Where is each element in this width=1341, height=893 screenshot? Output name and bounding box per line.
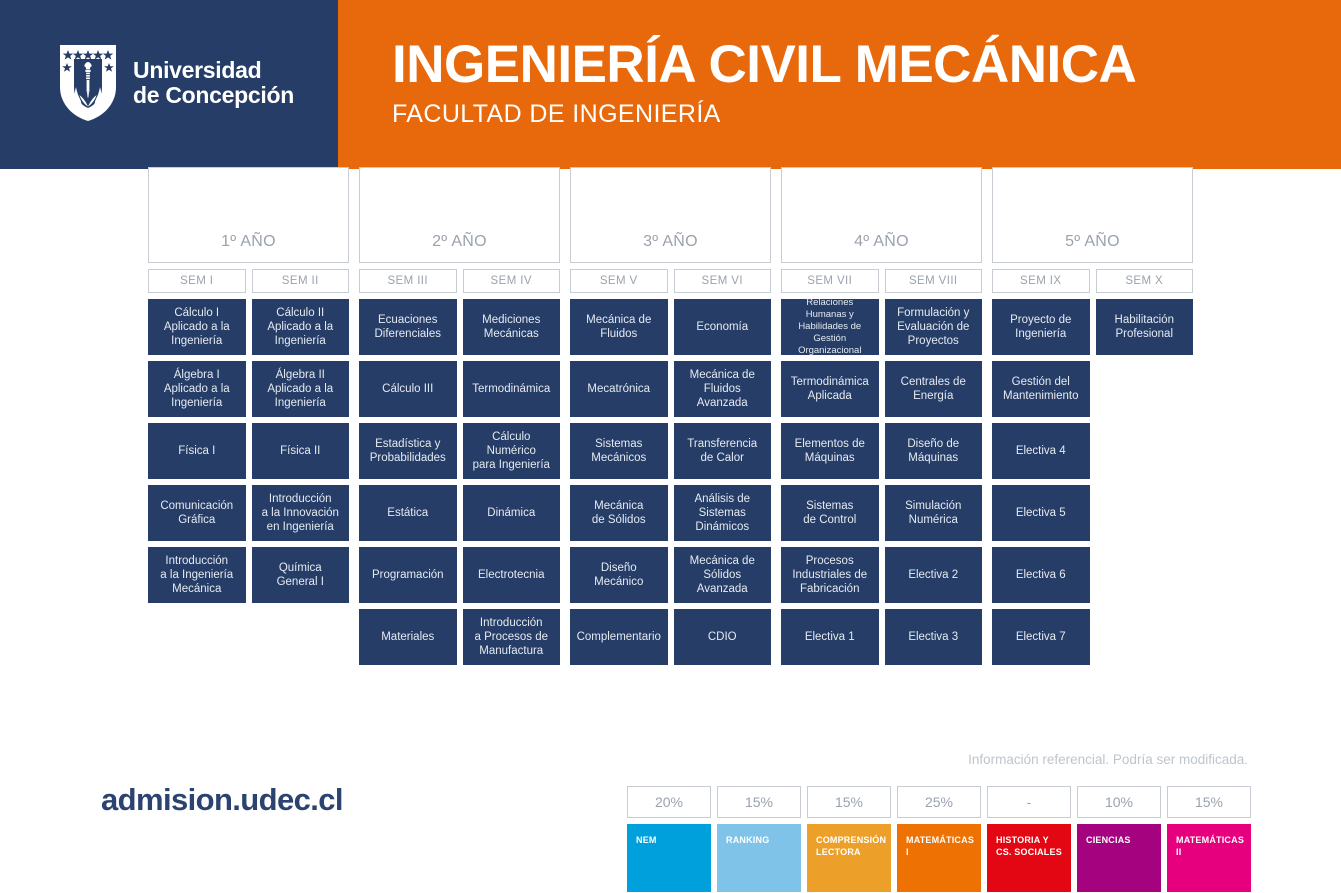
faculty-subtitle: FACULTAD DE INGENIERÍA <box>392 100 1341 129</box>
semester-label: SEM X <box>1125 275 1163 287</box>
course-column-5: Mecánica deFluidosMecatrónicaSistemasMec… <box>570 299 668 671</box>
course-cell[interactable]: Transferenciade Calor <box>674 423 772 479</box>
year-gap <box>560 167 570 263</box>
course-cell-empty <box>1096 547 1194 603</box>
course-cell[interactable]: Introduccióna la IngenieríaMecánica <box>148 547 246 603</box>
course-cell[interactable]: ProcesosIndustriales deFabricación <box>781 547 879 603</box>
course-name: Estadística yProbabilidades <box>370 437 446 466</box>
weight-factor-label: CIENCIAS <box>1077 824 1161 892</box>
weight-column-2: 15%RANKING <box>717 786 801 892</box>
course-cell[interactable]: Gestión delMantenimiento <box>992 361 1090 417</box>
course-column-3: EcuacionesDiferencialesCálculo IIIEstadí… <box>359 299 457 671</box>
year-header-3: 3º AÑO <box>570 167 771 263</box>
year-label: 4º AÑO <box>854 233 909 251</box>
semester-header-9[interactable]: SEM IX <box>992 269 1090 293</box>
semester-label: SEM III <box>387 275 428 287</box>
university-name-line2: de Concepción <box>133 83 294 108</box>
course-name: Álgebra IIAplicado a laIngeniería <box>267 368 333 411</box>
course-cell-empty <box>1096 609 1194 665</box>
disclaimer-text: Información referencial. Podría ser modi… <box>968 752 1248 767</box>
course-cell[interactable]: Análisis deSistemasDinámicos <box>674 485 772 541</box>
university-name-line1: Universidad <box>133 58 294 83</box>
course-cell[interactable]: Introduccióna la Innovaciónen Ingeniería <box>252 485 350 541</box>
semester-header-4[interactable]: SEM IV <box>463 269 561 293</box>
course-name: Electiva 7 <box>1016 630 1066 644</box>
course-cell[interactable]: Cálculo IAplicado a laIngeniería <box>148 299 246 355</box>
course-name: Física II <box>280 444 320 458</box>
course-name: Mecánica deFluidos Avanzada <box>678 368 768 411</box>
course-name: Programación <box>372 568 444 582</box>
course-name: Electiva 3 <box>908 630 958 644</box>
course-column-2: Cálculo IIAplicado a laIngenieríaÁlgebra… <box>252 299 350 671</box>
course-name: Dinámica <box>487 506 535 520</box>
semester-gap <box>771 269 781 293</box>
semester-gap <box>560 269 570 293</box>
course-cell[interactable]: Álgebra IAplicado a laIngeniería <box>148 361 246 417</box>
course-cell[interactable]: Centrales deEnergía <box>885 361 983 417</box>
course-cell[interactable]: Mecánica deFluidos <box>570 299 668 355</box>
weight-percent: 25% <box>897 786 981 818</box>
semester-header-3[interactable]: SEM III <box>359 269 457 293</box>
course-name: Economía <box>696 320 748 334</box>
course-column-8: Formulación yEvaluación deProyectosCentr… <box>885 299 983 671</box>
semester-header-7[interactable]: SEM VII <box>781 269 879 293</box>
course-name: Mecatrónica <box>587 382 650 396</box>
course-name: Introduccióna Procesos deManufactura <box>474 616 548 659</box>
course-name: Introduccióna la Innovaciónen Ingeniería <box>262 492 339 535</box>
semester-gap <box>349 269 359 293</box>
course-cell[interactable]: TermodinámicaAplicada <box>781 361 879 417</box>
course-cell[interactable]: Mecánicade Sólidos <box>570 485 668 541</box>
course-name: QuímicaGeneral I <box>277 561 324 590</box>
course-name: Mecánica deSólidos Avanzada <box>678 554 768 597</box>
course-name: Cálculo Numéricopara Ingeniería <box>467 430 557 473</box>
course-column-gap <box>349 299 359 671</box>
course-cell[interactable]: Dinámica <box>463 485 561 541</box>
course-cell[interactable]: Electrotecnia <box>463 547 561 603</box>
course-name: Complementario <box>577 630 661 644</box>
weight-column-3: 15%COMPRENSIÓNLECTORA <box>807 786 891 892</box>
course-cell[interactable]: Cálculo IIAplicado a laIngeniería <box>252 299 350 355</box>
course-cell[interactable]: Sistemasde Control <box>781 485 879 541</box>
semester-gap <box>982 269 992 293</box>
year-gap <box>982 167 992 263</box>
weight-column-1: 20%NEM <box>627 786 711 892</box>
course-name: Física I <box>178 444 215 458</box>
course-column-9: Proyecto deIngenieríaGestión delMantenim… <box>992 299 1090 671</box>
course-column-4: MedicionesMecánicasTermodinámicaCálculo … <box>463 299 561 671</box>
course-cell[interactable]: ComunicaciónGráfica <box>148 485 246 541</box>
semester-label: SEM I <box>180 275 213 287</box>
header-brand-panel: Universidad de Concepción <box>0 0 338 166</box>
course-cell[interactable]: Materiales <box>359 609 457 665</box>
weight-factor-label: MATEMÁTICAS I <box>897 824 981 892</box>
semester-label: SEM VII <box>807 275 852 287</box>
course-name: SistemasMecánicos <box>591 437 646 466</box>
course-cell-empty <box>1096 361 1194 417</box>
curriculum-grid: 1º AÑO2º AÑO3º AÑO4º AÑO5º AÑO SEM ISEM … <box>148 167 1193 671</box>
year-label: 1º AÑO <box>221 233 276 251</box>
course-name: Elementos deMáquinas <box>795 437 865 466</box>
admission-site-url[interactable]: admision.udec.cl <box>101 782 343 818</box>
course-name: Electiva 2 <box>908 568 958 582</box>
year-label: 5º AÑO <box>1065 233 1120 251</box>
weight-percent: 15% <box>717 786 801 818</box>
course-column-7: Relaciones Humanas yHabilidades de Gesti… <box>781 299 879 671</box>
course-name: Termodinámica <box>472 382 550 396</box>
course-name: Estática <box>387 506 428 520</box>
course-name: ProcesosIndustriales deFabricación <box>792 554 867 597</box>
page-header: Universidad de Concepción INGENIERÍA CIV… <box>0 0 1341 166</box>
course-cell[interactable]: Introduccióna Procesos deManufactura <box>463 609 561 665</box>
course-cell[interactable]: Mecatrónica <box>570 361 668 417</box>
year-gap <box>771 167 781 263</box>
course-column-6: EconomíaMecánica deFluidos AvanzadaTrans… <box>674 299 772 671</box>
course-cell[interactable]: HabilitaciónProfesional <box>1096 299 1194 355</box>
course-name: Introduccióna la IngenieríaMecánica <box>160 554 233 597</box>
admission-weights-table: 20%NEM15%RANKING15%COMPRENSIÓNLECTORA25%… <box>627 786 1251 892</box>
course-name: Cálculo III <box>382 382 433 396</box>
course-name: Electiva 5 <box>1016 506 1066 520</box>
year-header-row: 1º AÑO2º AÑO3º AÑO4º AÑO5º AÑO <box>148 167 1193 263</box>
course-cell[interactable]: Formulación yEvaluación deProyectos <box>885 299 983 355</box>
course-cell[interactable]: Electiva 5 <box>992 485 1090 541</box>
semester-label: SEM VIII <box>909 275 958 287</box>
course-name: ComunicaciónGráfica <box>160 499 233 528</box>
course-cell[interactable]: Física II <box>252 423 350 479</box>
semester-label: SEM V <box>600 275 638 287</box>
weight-factor-label: RANKING <box>717 824 801 892</box>
semester-label: SEM IV <box>491 275 532 287</box>
course-cell[interactable]: Complementario <box>570 609 668 665</box>
course-cell[interactable]: SimulaciónNumérica <box>885 485 983 541</box>
course-name: Materiales <box>381 630 434 644</box>
course-name: Relaciones Humanas yHabilidades de Gesti… <box>785 297 875 356</box>
header-title-panel: INGENIERÍA CIVIL MECÁNICA FACULTAD DE IN… <box>338 0 1341 166</box>
course-cell[interactable]: EcuacionesDiferenciales <box>359 299 457 355</box>
course-cell[interactable]: Diseño deMáquinas <box>885 423 983 479</box>
semester-header-row: SEM ISEM IISEM IIISEM IVSEM VSEM VISEM V… <box>148 269 1193 293</box>
course-name: Electiva 6 <box>1016 568 1066 582</box>
course-cell[interactable]: Relaciones Humanas yHabilidades de Gesti… <box>781 299 879 355</box>
course-name: Cálculo IIAplicado a laIngeniería <box>267 306 333 349</box>
course-cell[interactable]: SistemasMecánicos <box>570 423 668 479</box>
course-name: EcuacionesDiferenciales <box>375 313 441 342</box>
weight-factor-label: MATEMÁTICAS II <box>1167 824 1251 892</box>
course-cell[interactable]: Cálculo III <box>359 361 457 417</box>
semester-label: SEM VI <box>702 275 743 287</box>
course-column-1: Cálculo IAplicado a laIngenieríaÁlgebra … <box>148 299 246 671</box>
course-cell[interactable]: Electiva 4 <box>992 423 1090 479</box>
year-label: 3º AÑO <box>643 233 698 251</box>
course-column-gap <box>982 299 992 671</box>
course-column-gap <box>771 299 781 671</box>
course-name: Cálculo IAplicado a laIngeniería <box>164 306 230 349</box>
course-cell[interactable]: Termodinámica <box>463 361 561 417</box>
course-name: Diseño deMáquinas <box>907 437 959 466</box>
weight-factor-label: HISTORIA YCS. SOCIALES <box>987 824 1071 892</box>
course-cell[interactable]: Electiva 1 <box>781 609 879 665</box>
weight-percent: 10% <box>1077 786 1161 818</box>
course-name: Electrotecnia <box>478 568 544 582</box>
semester-header-8[interactable]: SEM VIII <box>885 269 983 293</box>
semester-label: SEM II <box>282 275 319 287</box>
course-cell-empty <box>1096 485 1194 541</box>
course-cell[interactable]: Proyecto deIngeniería <box>992 299 1090 355</box>
course-cell[interactable]: DiseñoMecánico <box>570 547 668 603</box>
year-header-2: 2º AÑO <box>359 167 560 263</box>
weight-percent: - <box>987 786 1071 818</box>
weight-column-7: 15%MATEMÁTICAS II <box>1167 786 1251 892</box>
weight-factor-label: COMPRENSIÓNLECTORA <box>807 824 891 892</box>
course-columns: Cálculo IAplicado a laIngenieríaÁlgebra … <box>148 299 1193 671</box>
course-cell[interactable]: Estática <box>359 485 457 541</box>
course-cell[interactable]: Electiva 7 <box>992 609 1090 665</box>
course-name: Álgebra IAplicado a laIngeniería <box>164 368 230 411</box>
semester-header-2[interactable]: SEM II <box>252 269 350 293</box>
course-cell-empty <box>148 609 246 665</box>
udec-shield-logo-icon <box>54 43 122 123</box>
weight-percent: 15% <box>1167 786 1251 818</box>
year-label: 2º AÑO <box>432 233 487 251</box>
course-column-10: HabilitaciónProfesional <box>1096 299 1194 671</box>
weight-column-4: 25%MATEMÁTICAS I <box>897 786 981 892</box>
weight-column-6: 10%CIENCIAS <box>1077 786 1161 892</box>
course-cell-empty <box>252 609 350 665</box>
course-cell[interactable]: Programación <box>359 547 457 603</box>
course-name: Electiva 4 <box>1016 444 1066 458</box>
course-name: Mecánicade Sólidos <box>592 499 646 528</box>
course-name: Gestión delMantenimiento <box>1003 375 1078 404</box>
semester-header-6[interactable]: SEM VI <box>674 269 772 293</box>
weight-percent: 15% <box>807 786 891 818</box>
course-name: Formulación yEvaluación deProyectos <box>897 306 969 349</box>
university-logo: Universidad de Concepción <box>54 43 294 123</box>
course-cell[interactable]: Electiva 2 <box>885 547 983 603</box>
semester-header-5[interactable]: SEM V <box>570 269 668 293</box>
program-title: INGENIERÍA CIVIL MECÁNICA <box>392 37 1341 93</box>
year-header-4: 4º AÑO <box>781 167 982 263</box>
year-header-5: 5º AÑO <box>992 167 1193 263</box>
course-name: Electiva 1 <box>805 630 855 644</box>
weight-column-5: -HISTORIA YCS. SOCIALES <box>987 786 1071 892</box>
course-column-gap <box>560 299 570 671</box>
course-name: Centrales deEnergía <box>901 375 966 404</box>
year-gap <box>349 167 359 263</box>
course-cell[interactable]: Electiva 3 <box>885 609 983 665</box>
course-name: Sistemasde Control <box>803 499 856 528</box>
course-name: SimulaciónNumérica <box>905 499 961 528</box>
course-cell[interactable]: Economía <box>674 299 772 355</box>
course-name: TermodinámicaAplicada <box>791 375 869 404</box>
course-cell[interactable]: QuímicaGeneral I <box>252 547 350 603</box>
year-header-1: 1º AÑO <box>148 167 349 263</box>
weight-percent: 20% <box>627 786 711 818</box>
course-cell[interactable]: Cálculo Numéricopara Ingeniería <box>463 423 561 479</box>
course-cell[interactable]: Estadística yProbabilidades <box>359 423 457 479</box>
course-cell-empty <box>1096 423 1194 479</box>
university-name: Universidad de Concepción <box>133 58 294 108</box>
course-name: Proyecto deIngeniería <box>1010 313 1071 342</box>
course-name: MedicionesMecánicas <box>482 313 540 342</box>
semester-label: SEM IX <box>1020 275 1061 287</box>
course-cell[interactable]: Mecánica deSólidos Avanzada <box>674 547 772 603</box>
course-name: CDIO <box>708 630 737 644</box>
course-name: DiseñoMecánico <box>594 561 643 590</box>
course-cell[interactable]: CDIO <box>674 609 772 665</box>
course-name: Mecánica deFluidos <box>586 313 651 342</box>
course-cell[interactable]: Electiva 6 <box>992 547 1090 603</box>
semester-header-10[interactable]: SEM X <box>1096 269 1194 293</box>
course-cell[interactable]: Elementos deMáquinas <box>781 423 879 479</box>
course-name: Análisis deSistemasDinámicos <box>694 492 750 535</box>
weight-factor-label: NEM <box>627 824 711 892</box>
semester-header-1[interactable]: SEM I <box>148 269 246 293</box>
course-name: Transferenciade Calor <box>687 437 757 466</box>
course-cell[interactable]: Mecánica deFluidos Avanzada <box>674 361 772 417</box>
course-name: HabilitaciónProfesional <box>1115 313 1174 342</box>
course-cell[interactable]: Álgebra IIAplicado a laIngeniería <box>252 361 350 417</box>
course-cell[interactable]: Física I <box>148 423 246 479</box>
course-cell[interactable]: MedicionesMecánicas <box>463 299 561 355</box>
